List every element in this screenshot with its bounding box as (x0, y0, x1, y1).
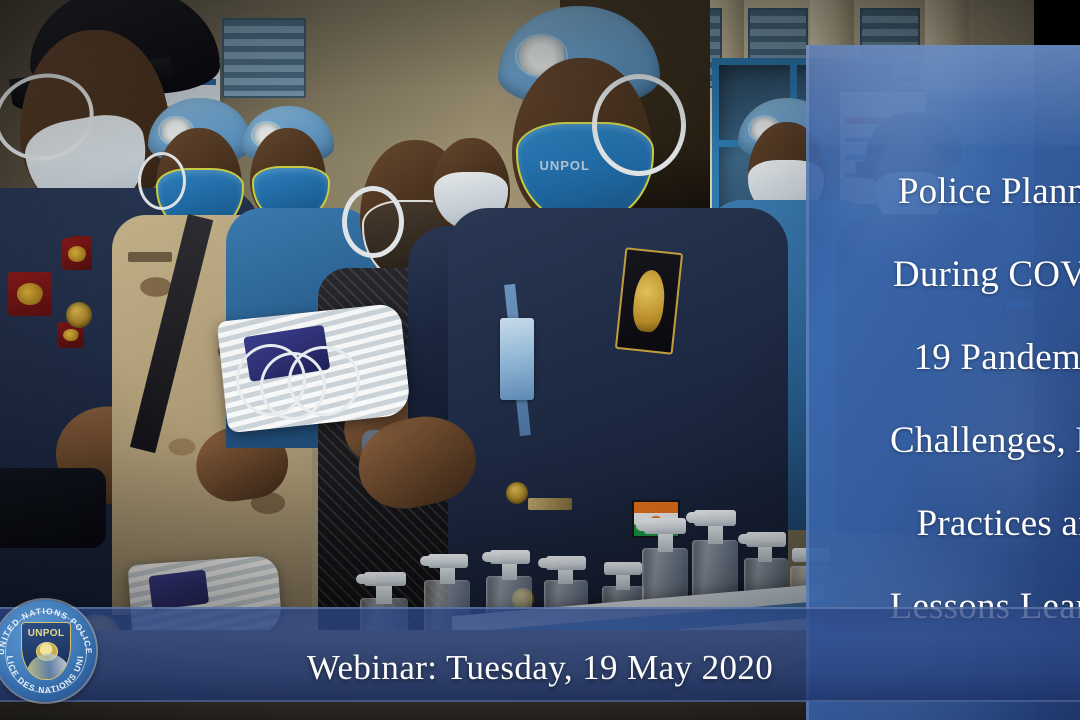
shoulder-patch (8, 272, 52, 316)
pump-neck (376, 584, 392, 604)
pump-neck (658, 532, 673, 552)
unpol-logo: UNITED NATIONS POLICE POLICE DES NATIONS… (0, 600, 96, 702)
pump-nozzle (482, 552, 502, 562)
pump-neck (616, 574, 630, 590)
pump-nozzle (420, 556, 440, 566)
rank-insignia (62, 238, 92, 270)
banner-bottom-rule (0, 700, 1080, 702)
slide-title: Police Planning During COVID- 19 Pandemi… (806, 150, 1080, 648)
gold-epaulette (615, 247, 683, 355)
mask-strap (138, 152, 186, 210)
name-bar (528, 498, 572, 510)
slide-title-line: Practices and (806, 482, 1080, 565)
slide-title-line: During COVID- (806, 233, 1080, 316)
mask-ear-loop (288, 346, 360, 416)
holster (0, 468, 106, 548)
pump-neck (708, 524, 723, 544)
pump-nozzle (356, 574, 378, 584)
id-badge (500, 318, 534, 400)
mask-strap (342, 186, 404, 258)
pump-nozzle (686, 512, 706, 523)
slide-title-line: Challenges, Best (806, 399, 1080, 482)
unpol-shield: UNPOL (21, 622, 72, 679)
webinar-date-text: Webinar: Tuesday, 19 May 2020 (0, 648, 1080, 688)
unpol-mask-text: UNPOL (539, 158, 590, 173)
pump-nozzle (738, 534, 758, 544)
balcony-railing (222, 18, 306, 98)
slide-title-line: Police Planning (806, 150, 1080, 233)
mask-package-label (148, 569, 209, 610)
pump-nozzle (538, 558, 558, 568)
uniform-button (506, 482, 528, 504)
pump-neck (502, 562, 517, 580)
unpol-shield-word: UNPOL (22, 628, 71, 639)
pump-nozzle (636, 520, 656, 531)
photo-letterbox-corner (1034, 0, 1080, 45)
uniform-button (66, 302, 92, 328)
webinar-slide: UNPOL (0, 0, 1080, 720)
banner-top-rule (0, 607, 1080, 609)
pump-head (604, 562, 642, 575)
pump-neck (440, 566, 455, 584)
unpol-swoosh (21, 650, 71, 680)
pump-neck (558, 568, 573, 584)
mask-strap (592, 74, 686, 176)
name-tape (128, 252, 172, 262)
slide-title-line: 19 Pandemic: (806, 316, 1080, 399)
